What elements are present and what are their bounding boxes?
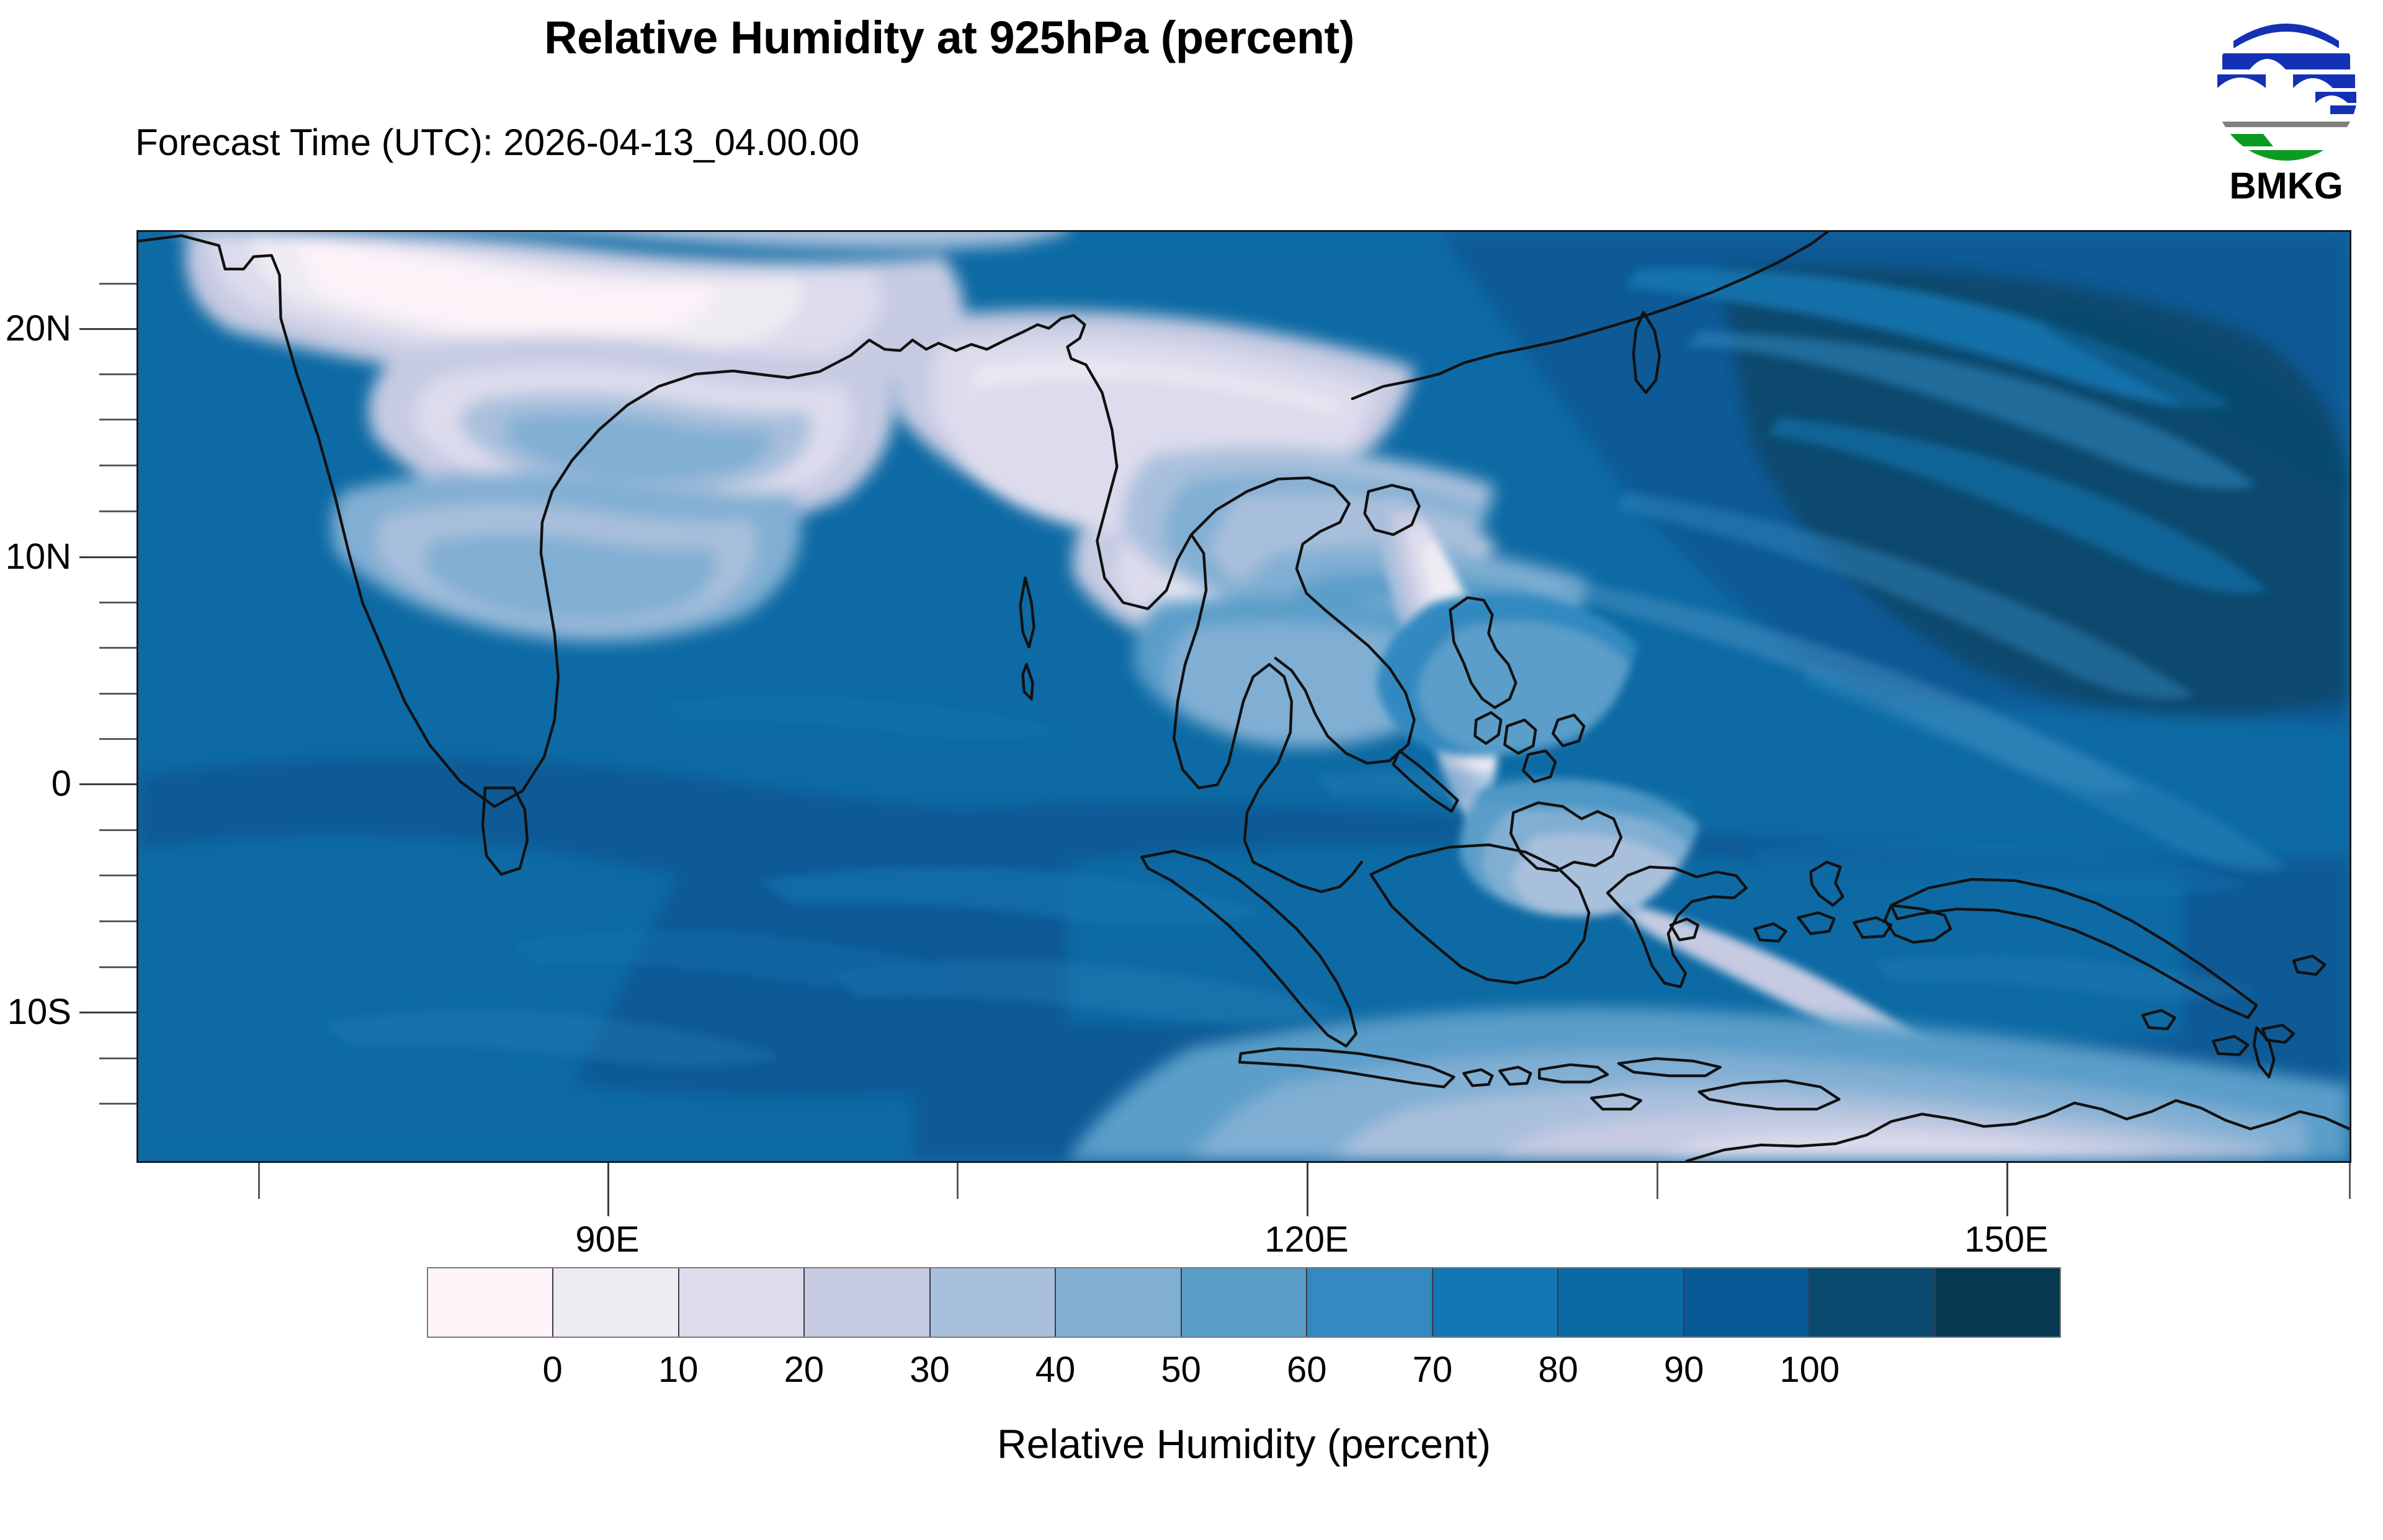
logo-text: BMKG — [2229, 165, 2343, 207]
ylabel-10s: 10S — [7, 991, 71, 1033]
colorbar-band-3 — [805, 1268, 930, 1337]
logo-divider — [2214, 122, 2359, 127]
xtick-150e — [2006, 1163, 2008, 1216]
colorbar-tick-30: 30 — [910, 1349, 950, 1391]
ytick-minor — [99, 693, 136, 695]
ylabel-0: 0 — [51, 763, 71, 804]
ytick-minor — [99, 510, 136, 512]
colorbar-band-2 — [679, 1268, 805, 1337]
colorbar-tick-10: 10 — [658, 1349, 699, 1391]
xlabel-120e: 120E — [1264, 1219, 1348, 1260]
colorbar-tick-60: 60 — [1287, 1349, 1327, 1391]
xtick-120e — [1307, 1163, 1308, 1216]
map-plot-area[interactable] — [136, 230, 2351, 1163]
colorbar-tick-40: 40 — [1035, 1349, 1076, 1391]
colorbar-tick-100: 100 — [1779, 1349, 1840, 1391]
colorbar-band-6 — [1182, 1268, 1307, 1337]
colorbar-tick-90: 90 — [1664, 1349, 1704, 1391]
colorbar-band-4 — [931, 1268, 1056, 1337]
colorbar-title: Relative Humidity (percent) — [427, 1420, 2061, 1467]
ytick-minor — [99, 1103, 136, 1105]
xtick-minor — [1656, 1163, 1658, 1199]
colorbar-band-11 — [1810, 1268, 1935, 1337]
ytick-minor — [99, 829, 136, 831]
ytick-minor — [99, 1057, 136, 1059]
xlabel-150e: 150E — [1964, 1219, 2048, 1260]
ytick-10s — [79, 1012, 136, 1013]
colorbar[interactable] — [427, 1267, 2061, 1338]
ylabel-10n: 10N — [6, 536, 71, 577]
colorbar-band-10 — [1684, 1268, 1810, 1337]
colorbar-band-5 — [1056, 1268, 1181, 1337]
colorbar-tick-70: 70 — [1413, 1349, 1453, 1391]
colorbar-tick-0: 0 — [542, 1349, 562, 1391]
ytick-10n — [79, 556, 136, 558]
xtick-minor — [2349, 1163, 2351, 1199]
colorbar-band-8 — [1433, 1268, 1558, 1337]
xlabel-90e: 90E — [575, 1219, 639, 1260]
ylabel-20n: 20N — [6, 308, 71, 349]
colorbar-band-7 — [1307, 1268, 1433, 1337]
ytick-minor — [99, 419, 136, 421]
colorbar-tick-labels: 0102030405060708090100 — [427, 1349, 2061, 1399]
colorbar-tick-50: 50 — [1161, 1349, 1201, 1391]
colorbar-band-9 — [1558, 1268, 1684, 1337]
xtick-90e — [607, 1163, 609, 1216]
ytick-minor — [99, 966, 136, 968]
ytick-minor — [99, 738, 136, 740]
ytick-minor — [99, 920, 136, 922]
xtick-minor — [957, 1163, 959, 1199]
bmkg-logo: BMKG — [2209, 5, 2364, 207]
colorbar-tick-20: 20 — [784, 1349, 825, 1391]
ytick-minor — [99, 875, 136, 876]
ytick-minor — [99, 283, 136, 285]
logo-cloud-stripes — [2217, 24, 2356, 114]
humidity-contour-map — [138, 232, 2349, 1161]
ytick-minor — [99, 465, 136, 466]
colorbar-band-1 — [553, 1268, 679, 1337]
forecast-time-label: Forecast Time (UTC): 2026-04-13_04.00.00 — [135, 121, 859, 164]
ytick-0 — [79, 783, 136, 785]
colorbar-band-12 — [1936, 1268, 2060, 1337]
colorbar-tick-80: 80 — [1538, 1349, 1578, 1391]
colorbar-band-0 — [428, 1268, 553, 1337]
ytick-minor — [99, 602, 136, 603]
ytick-minor — [99, 647, 136, 649]
ytick-20n — [79, 328, 136, 330]
page-title: Relative Humidity at 925hPa (percent) — [0, 11, 1898, 64]
xtick-minor — [258, 1163, 260, 1199]
ytick-minor — [99, 373, 136, 375]
